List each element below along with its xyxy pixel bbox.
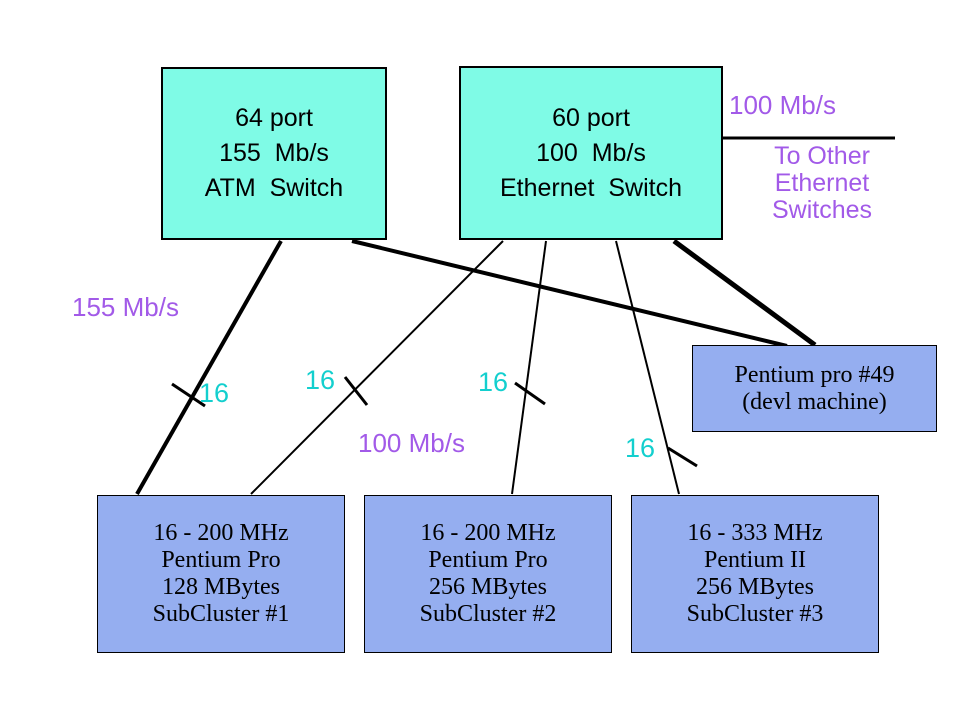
label-atm-speed: 155 Mb/s — [72, 294, 179, 321]
label-uplink-speed: 100 Mb/s — [729, 92, 836, 119]
subcluster-1-line-3: 128 MBytes — [162, 574, 280, 601]
ethernet-switch-line-2: 100 Mb/s — [536, 141, 646, 166]
diagram-canvas: 64 port 155 Mb/s ATM Switch 60 port 100 … — [0, 0, 959, 719]
atm-switch-line-1: 64 port — [235, 106, 313, 131]
atm-switch-line-2: 155 Mb/s — [219, 141, 329, 166]
subcluster-3-line-1: 16 - 333 MHz — [687, 520, 822, 547]
subcluster-2-line-1: 16 - 200 MHz — [420, 520, 555, 547]
node-pentium-pro-49[interactable]: Pentium pro #49 (devl machine) — [692, 345, 937, 432]
node-subcluster-1[interactable]: 16 - 200 MHz Pentium Pro 128 MBytes SubC… — [97, 495, 345, 653]
tick-mark-count-3 — [515, 383, 545, 404]
node-atm-switch[interactable]: 64 port 155 Mb/s ATM Switch — [161, 67, 387, 240]
label-ethernet-speed: 100 Mb/s — [358, 430, 465, 457]
pentium-pro-49-line-2: (devl machine) — [742, 389, 887, 416]
subcluster-2-line-2: Pentium Pro — [428, 547, 547, 574]
atm-switch-line-3: ATM Switch — [205, 176, 343, 201]
label-count-subcluster1-atm: 16 — [199, 379, 229, 407]
subcluster-3-line-4: SubCluster #3 — [687, 601, 824, 628]
subcluster-3-line-3: 256 MBytes — [696, 574, 814, 601]
label-count-subcluster3-enet: 16 — [625, 434, 655, 462]
label-count-subcluster1-enet: 16 — [305, 366, 335, 394]
wire-atm-to-pentiumpro49 — [352, 241, 787, 346]
node-ethernet-switch[interactable]: 60 port 100 Mb/s Ethernet Switch — [459, 66, 723, 240]
pentium-pro-49-line-1: Pentium pro #49 — [735, 362, 895, 389]
node-subcluster-2[interactable]: 16 - 200 MHz Pentium Pro 256 MBytes SubC… — [364, 495, 612, 653]
subcluster-2-line-4: SubCluster #2 — [420, 601, 557, 628]
wire-atm-to-subcluster1 — [137, 241, 281, 494]
subcluster-1-line-4: SubCluster #1 — [153, 601, 290, 628]
subcluster-1-line-1: 16 - 200 MHz — [153, 520, 288, 547]
node-subcluster-3[interactable]: 16 - 333 MHz Pentium II 256 MBytes SubCl… — [631, 495, 879, 653]
label-uplink-target: To Other Ethernet Switches — [737, 143, 907, 224]
subcluster-3-line-2: Pentium II — [704, 547, 806, 574]
label-count-subcluster2-enet: 16 — [478, 368, 508, 396]
ethernet-switch-line-1: 60 port — [552, 106, 630, 131]
subcluster-2-line-3: 256 MBytes — [429, 574, 547, 601]
subcluster-1-line-2: Pentium Pro — [161, 547, 280, 574]
wire-ethernet-to-pentiumpro49 — [674, 241, 815, 345]
ethernet-switch-line-3: Ethernet Switch — [500, 176, 682, 201]
